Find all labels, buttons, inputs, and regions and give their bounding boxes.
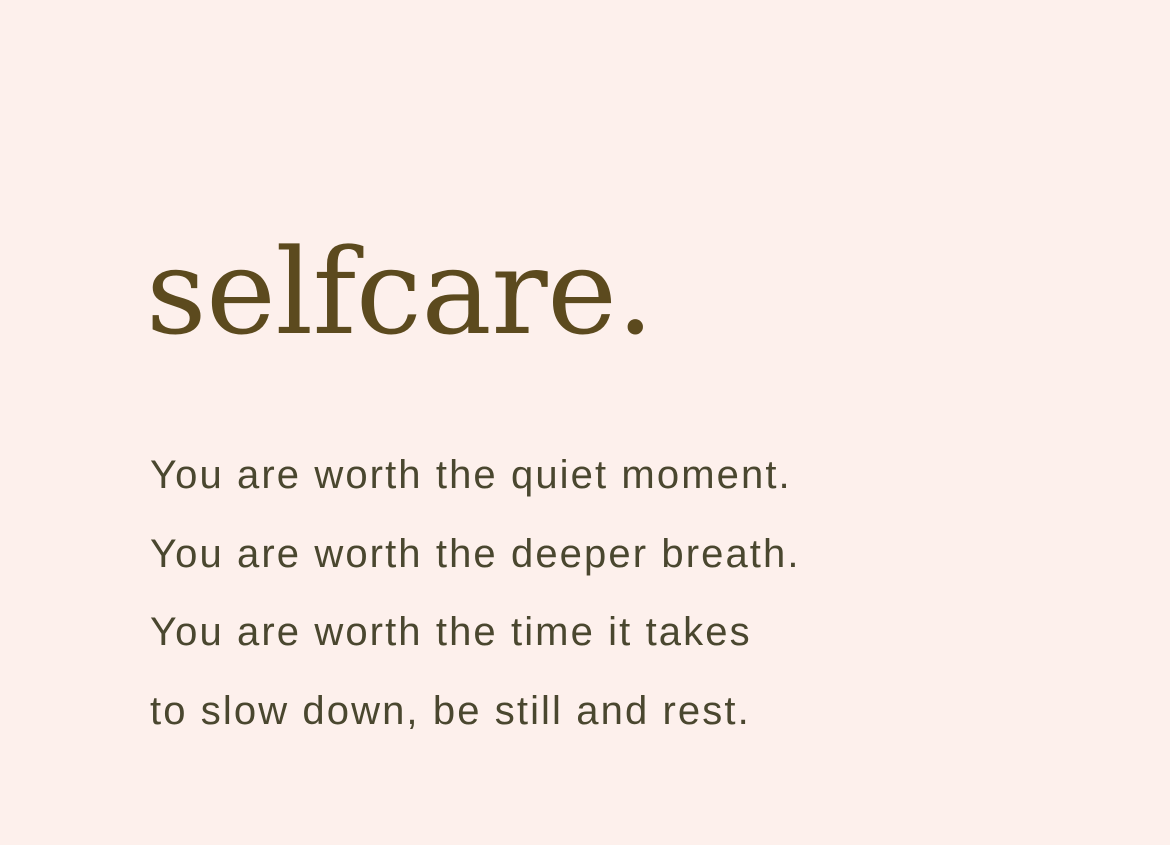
page-title: selfcare. [146,232,654,352]
quote-line-4: to slow down, be still and rest. [150,672,1050,751]
quote-body: You are worth the quiet moment. You are … [150,436,1050,750]
quote-card: selfcare. You are worth the quiet moment… [0,0,1170,845]
quote-line-2: You are worth the deeper breath. [150,515,1050,594]
quote-line-3: You are worth the time it takes [150,593,1050,672]
quote-line-1: You are worth the quiet moment. [150,436,1050,515]
